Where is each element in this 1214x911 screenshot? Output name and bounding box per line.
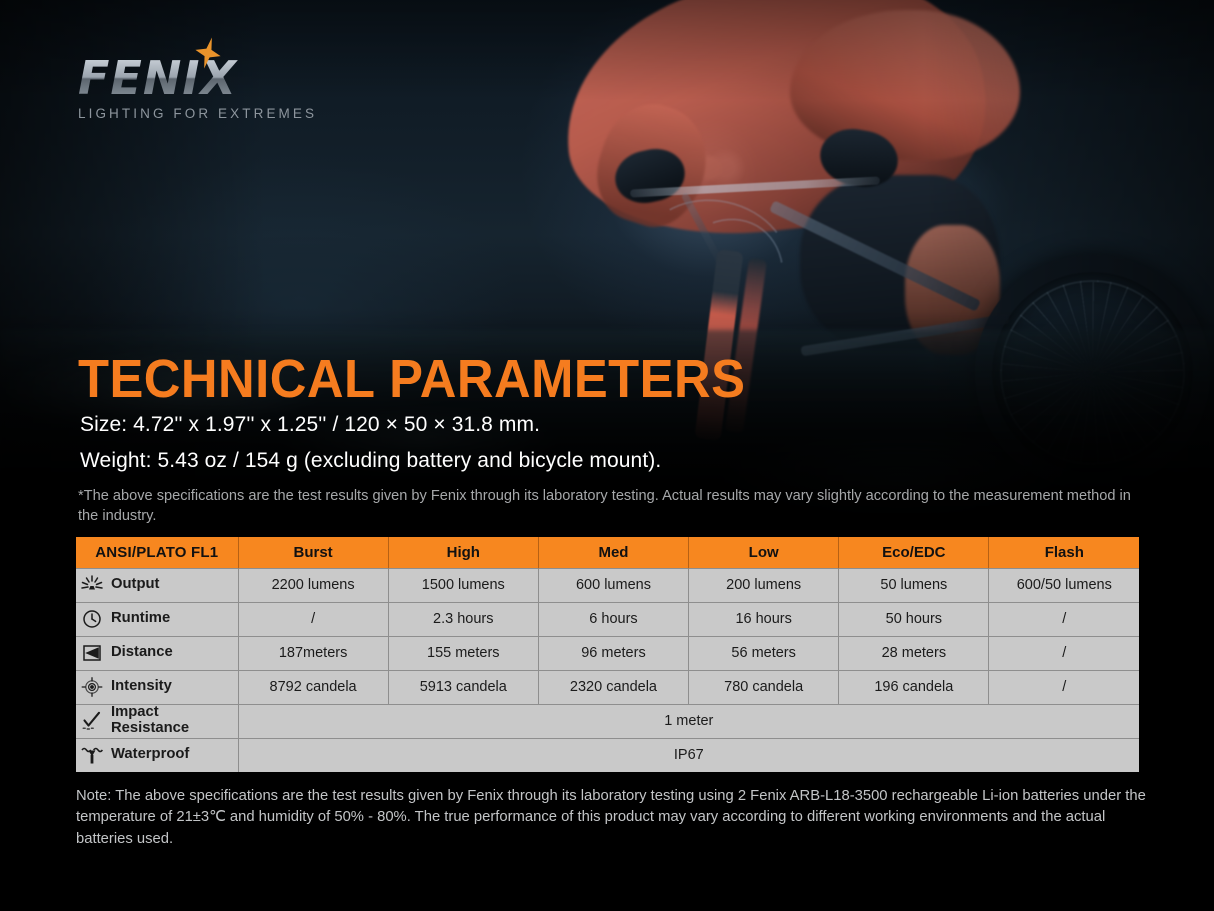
impact-resistance-icon xyxy=(80,710,104,732)
row-label-text: Waterproof xyxy=(111,747,189,763)
footer-note: Note: The above specifications are the t… xyxy=(76,786,1156,850)
spec-size-line: Size: 4.72'' x 1.97'' x 1.25'' / 120 × 5… xyxy=(80,412,540,437)
specs-disclaimer: *The above specifications are the test r… xyxy=(78,486,1153,526)
column-header-high: High xyxy=(388,537,538,568)
page-title: TECHNICAL PARAMETERS xyxy=(78,352,745,406)
cell-output-med: 600 lumens xyxy=(538,568,688,602)
table-row: Intensity 8792 candela 5913 candela 2320… xyxy=(76,670,1139,704)
row-label-runtime: Runtime xyxy=(76,602,238,636)
column-header-standard: ANSI/PLATO FL1 xyxy=(76,537,238,568)
cell-intensity-low: 780 candela xyxy=(689,670,839,704)
impact-label-line1: Impact xyxy=(111,704,159,720)
row-label-text: Intensity xyxy=(111,679,172,695)
beam-distance-icon xyxy=(80,642,104,664)
row-label-waterproof: Waterproof xyxy=(76,738,238,772)
cell-distance-low: 56 meters xyxy=(689,636,839,670)
cell-runtime-flash: / xyxy=(989,602,1139,636)
cell-output-high: 1500 lumens xyxy=(388,568,538,602)
cell-output-eco: 50 lumens xyxy=(839,568,989,602)
table-row: ImpactResistance 1 meter xyxy=(76,704,1139,738)
table-header-row: ANSI/PLATO FL1 Burst High Med Low Eco/ED… xyxy=(76,537,1139,568)
impact-label-line2: Resistance xyxy=(111,720,189,736)
row-label-text: Runtime xyxy=(111,611,170,627)
cell-impact-resistance-value: 1 meter xyxy=(238,704,1139,738)
cell-waterproof-value: IP67 xyxy=(238,738,1139,772)
column-header-low: Low xyxy=(689,537,839,568)
cell-intensity-high: 5913 candela xyxy=(388,670,538,704)
row-label-distance: Distance xyxy=(76,636,238,670)
intensity-target-icon xyxy=(80,676,104,698)
cell-runtime-med: 6 hours xyxy=(538,602,688,636)
cell-intensity-flash: / xyxy=(989,670,1139,704)
table-row: Output 2200 lumens 1500 lumens 600 lumen… xyxy=(76,568,1139,602)
technical-parameters-table: ANSI/PLATO FL1 Burst High Med Low Eco/ED… xyxy=(76,537,1139,772)
column-header-flash: Flash xyxy=(989,537,1139,568)
cell-distance-med: 96 meters xyxy=(538,636,688,670)
cell-distance-flash: / xyxy=(989,636,1139,670)
cell-intensity-eco: 196 candela xyxy=(839,670,989,704)
cell-output-burst: 2200 lumens xyxy=(238,568,388,602)
row-label-intensity: Intensity xyxy=(76,670,238,704)
cell-runtime-burst: / xyxy=(238,602,388,636)
cell-runtime-high: 2.3 hours xyxy=(388,602,538,636)
waterproof-icon xyxy=(80,744,104,766)
table-row: Waterproof IP67 xyxy=(76,738,1139,772)
row-label-text: Output xyxy=(111,577,159,593)
row-label-text: ImpactResistance xyxy=(111,705,189,737)
row-label-impact-resistance: ImpactResistance xyxy=(76,704,238,738)
cell-runtime-eco: 50 hours xyxy=(839,602,989,636)
cell-intensity-burst: 8792 candela xyxy=(238,670,388,704)
cell-output-flash: 600/50 lumens xyxy=(989,568,1139,602)
brand-wordmark: FENIX xyxy=(78,55,317,101)
cell-runtime-low: 16 hours xyxy=(689,602,839,636)
table-row: Distance 187meters 155 meters 96 meters … xyxy=(76,636,1139,670)
cell-output-low: 200 lumens xyxy=(689,568,839,602)
light-rays-icon xyxy=(80,574,104,596)
column-header-burst: Burst xyxy=(238,537,388,568)
row-label-text: Distance xyxy=(111,645,173,661)
cell-distance-eco: 28 meters xyxy=(839,636,989,670)
clock-icon xyxy=(80,608,104,630)
spec-weight-line: Weight: 5.43 oz / 154 g (excluding batte… xyxy=(80,448,661,473)
cell-intensity-med: 2320 candela xyxy=(538,670,688,704)
column-header-med: Med xyxy=(538,537,688,568)
cell-distance-burst: 187meters xyxy=(238,636,388,670)
column-header-eco-edc: Eco/EDC xyxy=(839,537,989,568)
fenix-logo: FENIX LIGHTING FOR EXTREMES xyxy=(78,55,317,121)
row-label-output: Output xyxy=(76,568,238,602)
table-row: Runtime / 2.3 hours 6 hours 16 hours 50 … xyxy=(76,602,1139,636)
brand-tagline: LIGHTING FOR EXTREMES xyxy=(78,106,317,121)
cell-distance-high: 155 meters xyxy=(388,636,538,670)
